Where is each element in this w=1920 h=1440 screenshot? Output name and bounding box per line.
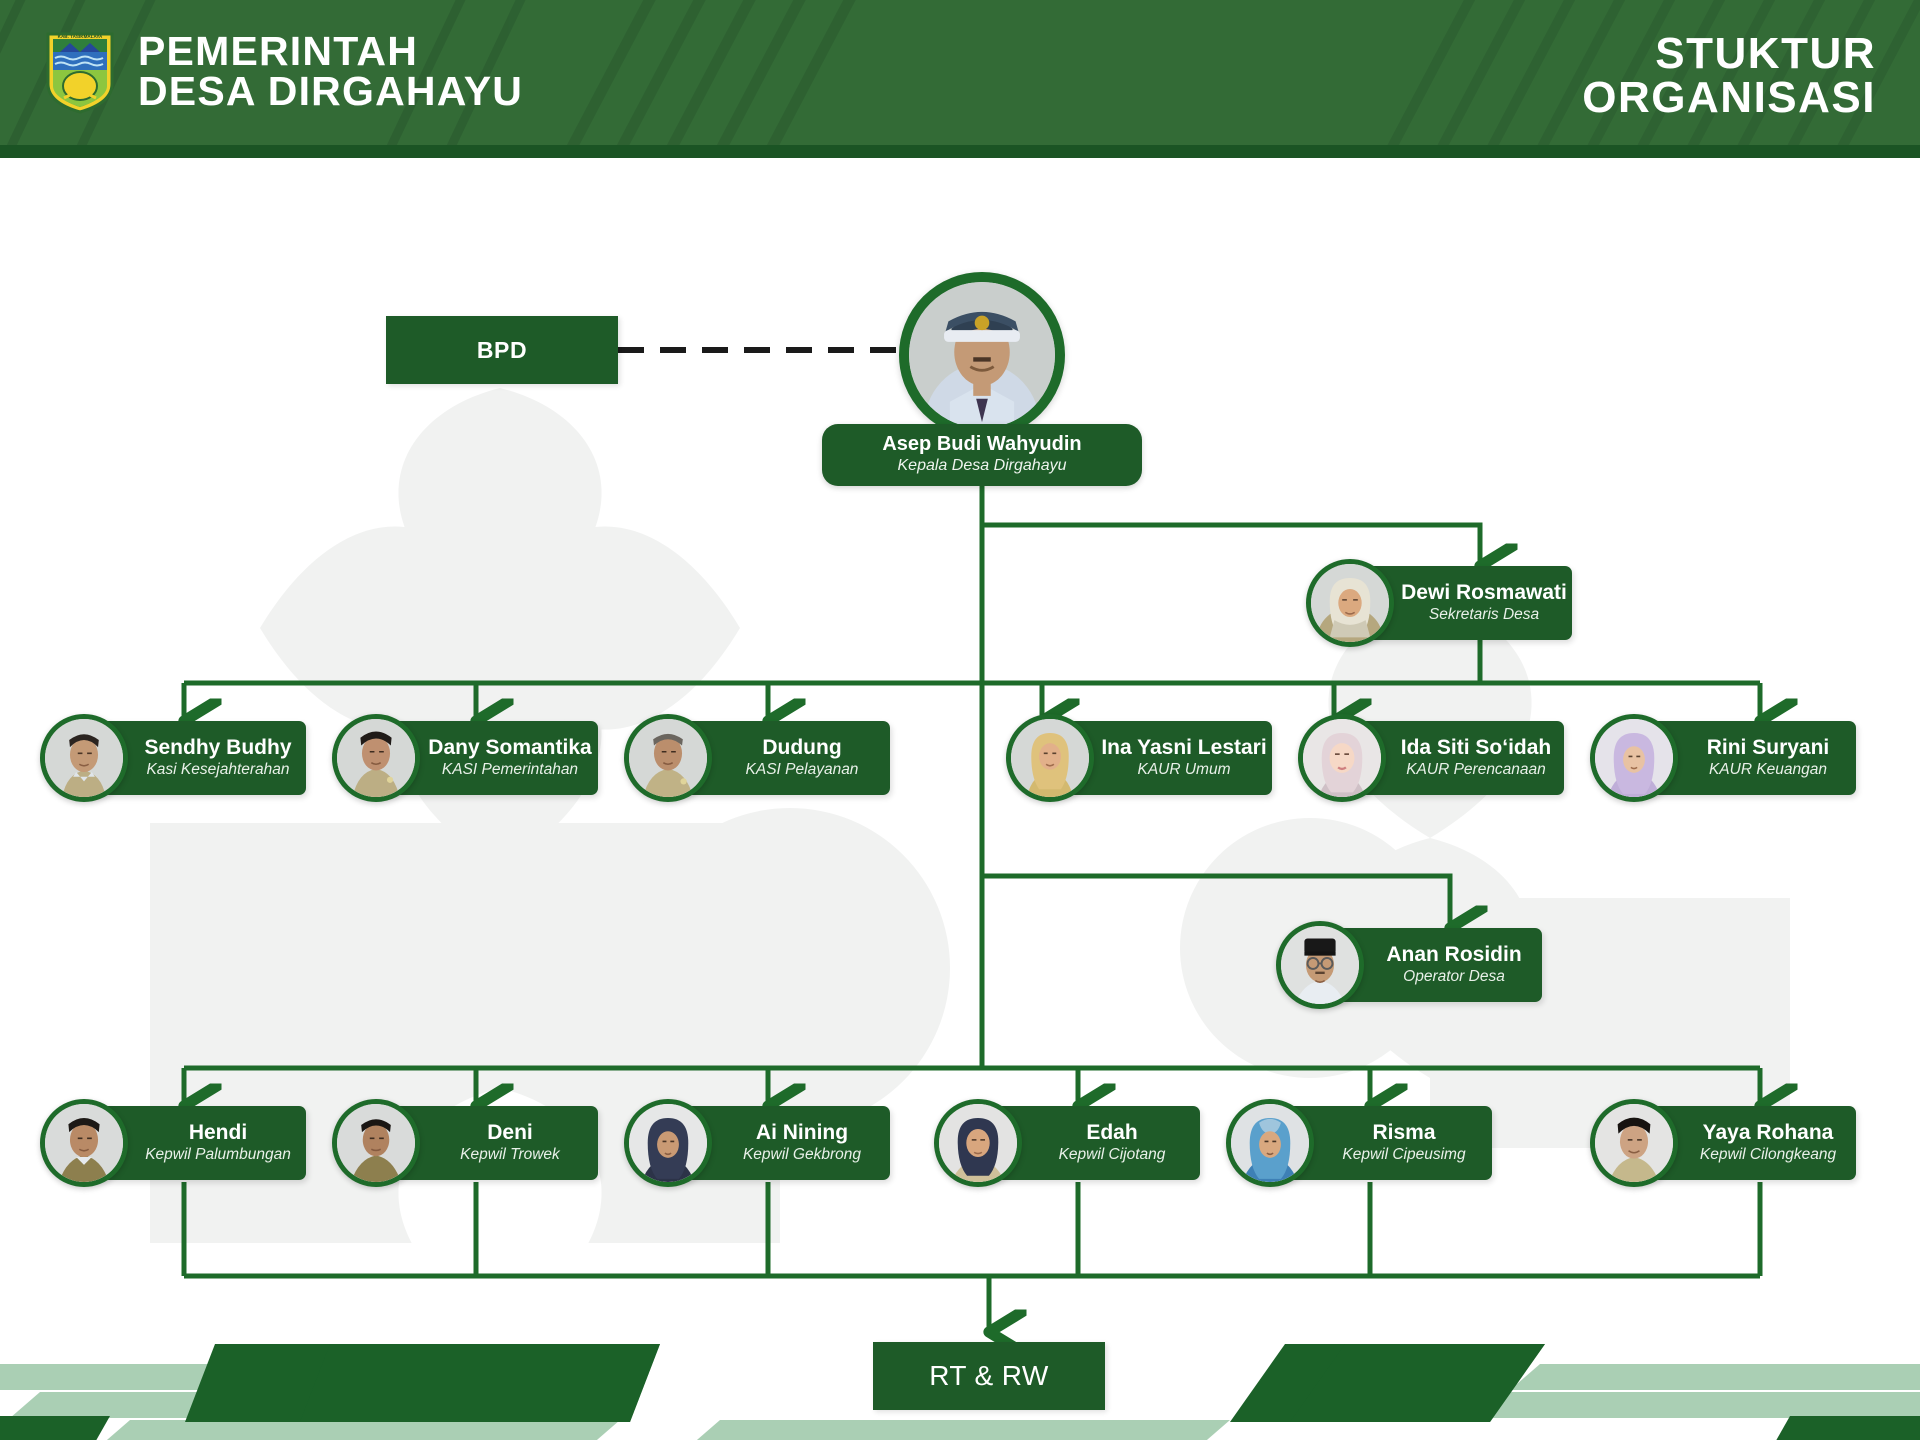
kepwil4-role: Kepwil Cijotang	[1059, 1145, 1166, 1165]
kaur3-role: KAUR Keuangan	[1709, 760, 1827, 780]
kades-label-plate: Asep Budi Wahyudin Kepala Desa Dirgahayu	[822, 424, 1142, 486]
sekdes-name: Dewi Rosmawati	[1401, 581, 1567, 606]
kepwil3-avatar	[624, 1099, 712, 1187]
kepwil4-name: Edah	[1086, 1121, 1137, 1146]
kasi1-avatar	[40, 714, 128, 802]
kepwil3-role: Kepwil Gekbrong	[743, 1145, 861, 1165]
kaur2-role: KAUR Perencanaan	[1406, 760, 1546, 780]
kepwil5-name: Risma	[1372, 1121, 1435, 1146]
kasi1-name: Sendhy Budhy	[144, 736, 291, 761]
kaur1-role: KAUR Umum	[1137, 760, 1230, 780]
kepwil6-name: Yaya Rohana	[1703, 1121, 1834, 1146]
kepwil2-name: Deni	[487, 1121, 533, 1146]
kasi3-role: KASI Pelayanan	[746, 760, 859, 780]
node-rtrw-label: RT & RW	[929, 1360, 1049, 1392]
node-bpd[interactable]: BPD	[386, 316, 618, 384]
kepwil5-role: Kepwil Cipeusimg	[1342, 1145, 1465, 1165]
sekdes-avatar	[1306, 559, 1394, 647]
kaur3-name: Rini Suryani	[1707, 736, 1830, 761]
kasi3-name: Dudung	[762, 736, 841, 761]
kepwil1-avatar	[40, 1099, 128, 1187]
kepwil1-role: Kepwil Palumbungan	[145, 1145, 291, 1165]
org-chart: BPD Asep Budi Wahyudin Kepala Desa Dirga…	[0, 0, 1920, 1440]
kasi2-avatar	[332, 714, 420, 802]
kasi2-role: KASI Pemerintahan	[442, 760, 578, 780]
kepwil4-avatar	[934, 1099, 1022, 1187]
node-rtrw[interactable]: RT & RW	[873, 1342, 1105, 1410]
kaur1-avatar	[1006, 714, 1094, 802]
kaur3-avatar	[1590, 714, 1678, 802]
kasi2-name: Dany Somantika	[428, 736, 591, 761]
kepwil3-name: Ai Nining	[756, 1121, 848, 1146]
kades-name: Asep Budi Wahyudin	[882, 433, 1081, 456]
node-bpd-label: BPD	[477, 337, 527, 364]
operator-role: Operator Desa	[1403, 967, 1505, 987]
kaur1-name: Ina Yasni Lestari	[1101, 736, 1266, 761]
kepwil2-avatar	[332, 1099, 420, 1187]
kades-role: Kepala Desa Dirgahayu	[898, 456, 1067, 477]
kasi1-role: Kasi Kesejahterahan	[146, 760, 289, 780]
kepwil1-name: Hendi	[189, 1121, 247, 1146]
kepwil6-avatar	[1590, 1099, 1678, 1187]
kepwil5-avatar	[1226, 1099, 1314, 1187]
kaur2-avatar	[1298, 714, 1386, 802]
kasi3-avatar	[624, 714, 712, 802]
kepwil2-role: Kepwil Trowek	[460, 1145, 560, 1165]
operator-name: Anan Rosidin	[1386, 943, 1521, 968]
sekdes-role: Sekretaris Desa	[1429, 605, 1539, 625]
node-kades[interactable]: Asep Budi Wahyudin Kepala Desa Dirgahayu	[899, 272, 1065, 438]
kaur2-name: Ida Siti So‘idah	[1401, 736, 1552, 761]
kades-avatar	[899, 272, 1065, 438]
kepwil6-role: Kepwil Cilongkeang	[1700, 1145, 1836, 1165]
operator-avatar	[1276, 921, 1364, 1009]
